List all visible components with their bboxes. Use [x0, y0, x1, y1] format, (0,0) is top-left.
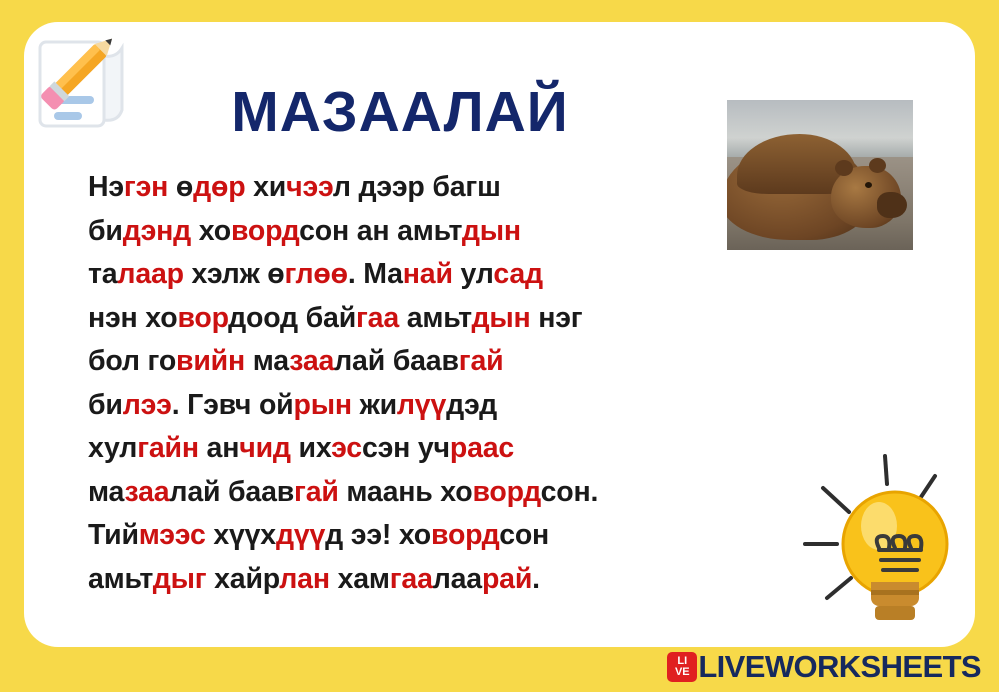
plain-text: . Ма	[348, 258, 403, 290]
highlighted-syllable: гаа	[356, 302, 399, 334]
plain-text: хүүх	[206, 519, 276, 551]
plain-text: маань хо	[339, 476, 473, 508]
highlighted-syllable: ворд	[472, 476, 540, 508]
plain-text: доод бай	[228, 302, 356, 334]
highlighted-syllable: гэн	[124, 171, 168, 203]
highlighted-syllable: чээ	[286, 171, 333, 203]
passage-line: бол говийн мазаалай баавгай	[88, 340, 728, 384]
plain-text: сон.	[541, 476, 599, 508]
passage-line: хулгайн анчид ихэссэн учраас	[88, 427, 728, 471]
plain-text: би	[88, 215, 123, 247]
reading-passage: Нэгэн өдөр хичээл дээр багшбидэнд ховорд…	[88, 166, 728, 601]
plain-text: хо	[191, 215, 231, 247]
highlighted-syllable: гаа	[390, 563, 433, 595]
highlighted-syllable: мээс	[139, 519, 206, 551]
bear-ear-right	[869, 158, 886, 173]
highlighted-syllable: лүү	[397, 389, 446, 421]
plain-text: бол го	[88, 345, 176, 377]
plain-text: л дээр багш	[333, 171, 501, 203]
highlighted-syllable: лээ	[123, 389, 172, 421]
passage-line: Тиймээс хүүхдүүд ээ! ховордсон	[88, 514, 728, 558]
plain-text: лай баав	[169, 476, 294, 508]
plain-text: дэд	[446, 389, 497, 421]
plain-text: Нэ	[88, 171, 124, 203]
bear-snout	[877, 192, 907, 218]
highlighted-syllable: дын	[471, 302, 530, 334]
plain-text: лай баав	[334, 345, 459, 377]
highlighted-syllable: гайн	[137, 432, 199, 464]
passage-line: амьтдыг хайрлан хамгаалаарай.	[88, 558, 728, 602]
highlighted-syllable: гай	[294, 476, 339, 508]
plain-text: сон	[499, 519, 549, 551]
plain-text: ма	[88, 476, 125, 508]
page-title: МАЗААЛАЙ	[120, 83, 680, 143]
highlighted-syllable: сад	[493, 258, 543, 290]
highlighted-syllable: вор	[177, 302, 228, 334]
logo-mark-bottom: VE	[675, 667, 690, 678]
highlighted-syllable: эс	[331, 432, 362, 464]
plain-text: та	[88, 258, 117, 290]
plain-text: . Гэвч ой	[172, 389, 294, 421]
passage-line: бидэнд ховордсон ан амьтдын	[88, 210, 728, 254]
lightbulb-icon	[775, 440, 975, 640]
highlighted-syllable: рын	[293, 389, 351, 421]
highlighted-syllable: дын	[462, 215, 521, 247]
plain-text: нэг	[531, 302, 583, 334]
plain-text: ул	[453, 258, 494, 290]
plain-text: ма	[245, 345, 289, 377]
highlighted-syllable: дөр	[193, 171, 245, 203]
passage-line: билээ. Гэвч ойрын жилүүдэд	[88, 384, 728, 428]
highlighted-syllable: дүү	[276, 519, 325, 551]
plain-text: хам	[330, 563, 390, 595]
plain-text: ан	[199, 432, 239, 464]
bear-eye	[865, 182, 872, 188]
plain-text: ө	[168, 171, 193, 203]
brown-bear-photo	[727, 100, 913, 250]
highlighted-syllable: гай	[459, 345, 504, 377]
plain-text: амьт	[399, 302, 471, 334]
plain-text: Тий	[88, 519, 139, 551]
plain-text: би	[88, 389, 123, 421]
plain-text: хул	[88, 432, 137, 464]
plain-text: д ээ! хо	[325, 519, 431, 551]
passage-line: Нэгэн өдөр хичээл дээр багш	[88, 166, 728, 210]
plain-text: сон ан амьт	[299, 215, 462, 247]
plain-text: сэн уч	[362, 432, 450, 464]
highlighted-syllable: ворд	[431, 519, 499, 551]
passage-line: талаар хэлж өглөө. Манай улсад	[88, 253, 728, 297]
highlighted-syllable: вийн	[176, 345, 245, 377]
passage-line: мазаалай баавгай маань ховордсон.	[88, 471, 728, 515]
plain-text: хайр	[206, 563, 279, 595]
plain-text: амьт	[88, 563, 153, 595]
plain-text: нэн хо	[88, 302, 177, 334]
highlighted-syllable: дэнд	[123, 215, 191, 247]
plain-text: их	[291, 432, 331, 464]
liveworksheets-logo[interactable]: LI VE LIVEWORKSHEETS	[667, 650, 981, 684]
passage-line: нэн ховордоод байгаа амьтдын нэг	[88, 297, 728, 341]
plain-text: лаа	[433, 563, 482, 595]
highlighted-syllable: дыг	[153, 563, 207, 595]
highlighted-syllable: раас	[450, 432, 514, 464]
liveworksheets-logo-text: LIVEWORKSHEETS	[698, 649, 981, 685]
plain-text: хэлж ө	[184, 258, 285, 290]
plain-text: .	[532, 563, 540, 595]
highlighted-syllable: заа	[289, 345, 334, 377]
bear-ear-left	[835, 160, 853, 176]
highlighted-syllable: ворд	[231, 215, 299, 247]
highlighted-syllable: най	[403, 258, 453, 290]
plain-text: жи	[352, 389, 397, 421]
highlighted-syllable: заа	[125, 476, 170, 508]
highlighted-syllable: чид	[239, 432, 291, 464]
highlighted-syllable: лан	[279, 563, 330, 595]
highlighted-syllable: глөө	[285, 258, 348, 290]
highlighted-syllable: лаар	[117, 258, 183, 290]
highlighted-syllable: рай	[482, 563, 532, 595]
plain-text: хи	[245, 171, 286, 203]
liveworksheets-logo-mark: LI VE	[667, 652, 697, 682]
